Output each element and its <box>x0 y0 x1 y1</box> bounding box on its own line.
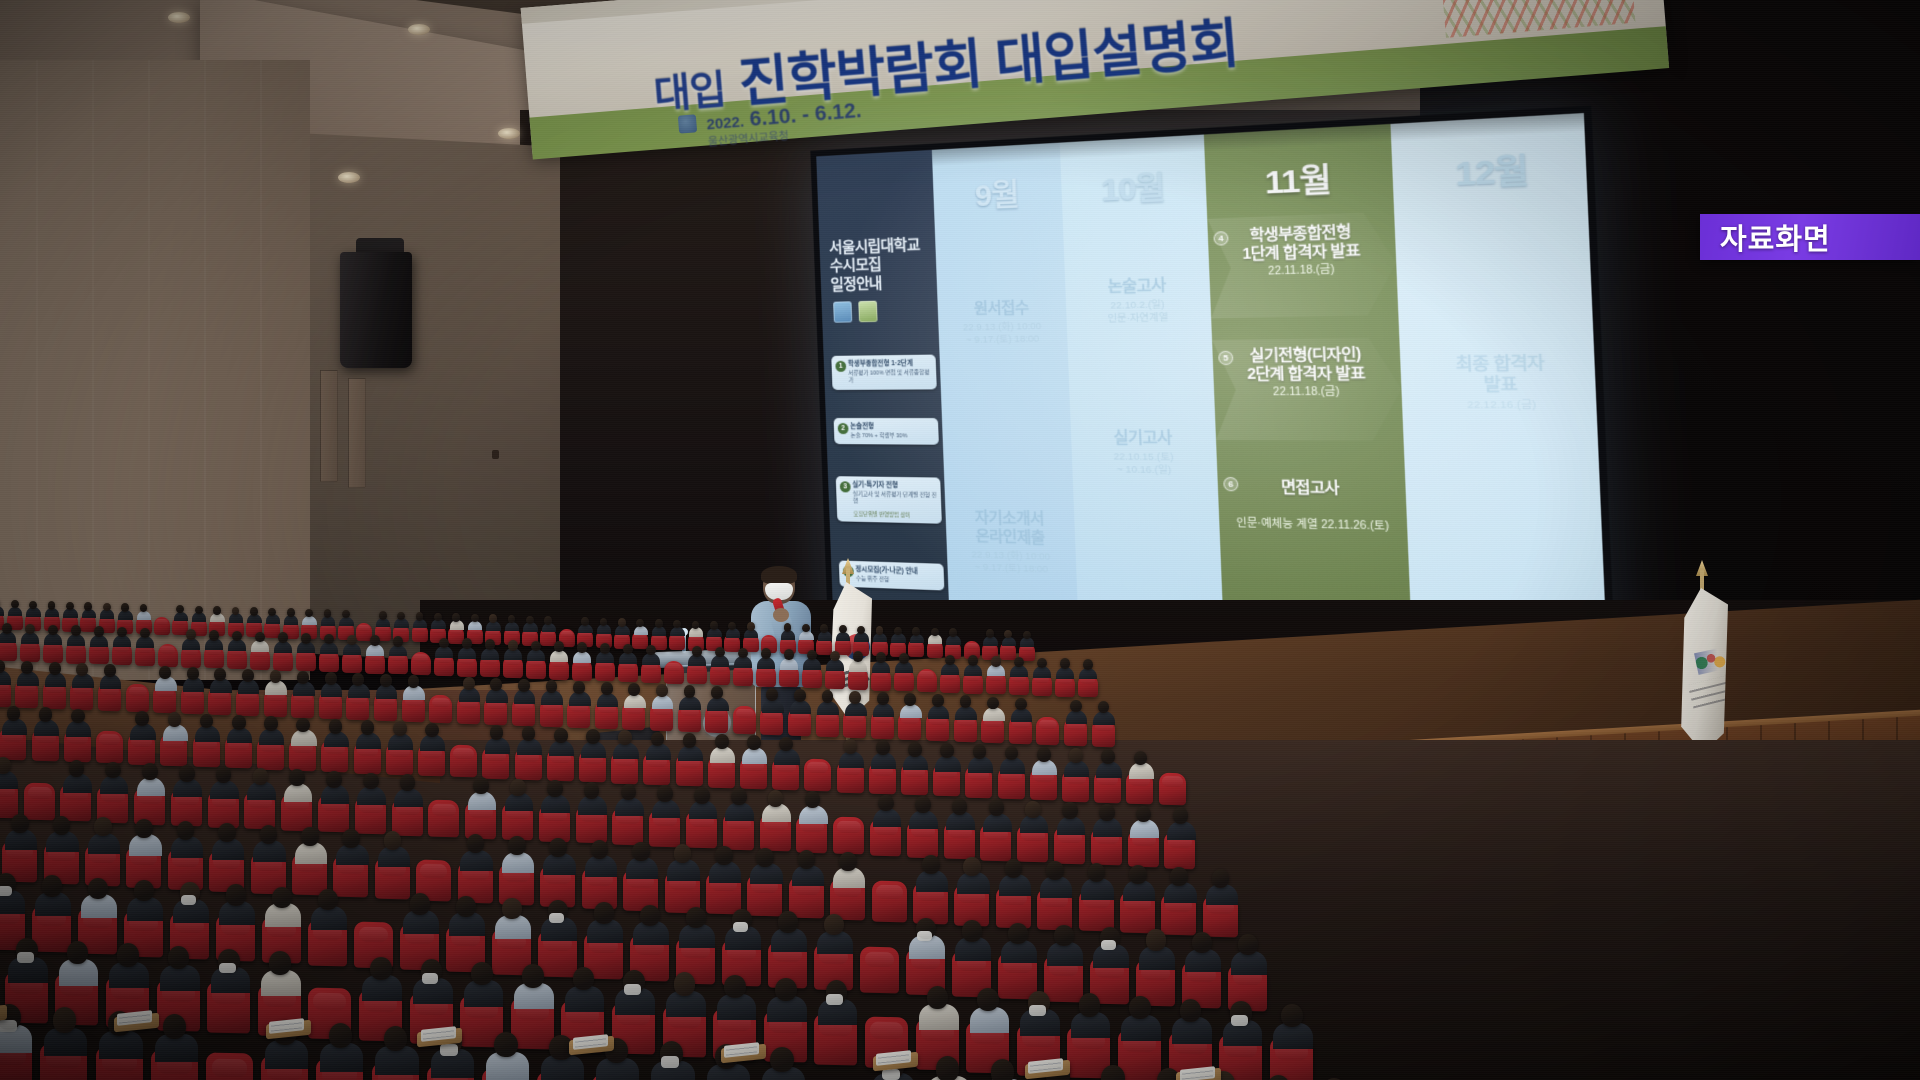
audience-member-head <box>250 607 258 615</box>
audience-member-head <box>1101 1065 1124 1080</box>
sidebar-notice-card: 1 학생부종합전형 1·2단계 서류평가 100% 면접 및 서류종합평가 <box>831 355 937 390</box>
audience-member-head <box>1046 861 1064 880</box>
audience-member-head <box>186 629 196 640</box>
audience-member-head <box>694 787 710 804</box>
audience-member-head <box>1173 807 1189 824</box>
audience-face-mask <box>1101 940 1116 950</box>
ceiling-light <box>408 24 430 35</box>
audience-member-head <box>824 914 844 935</box>
auditorium-seat <box>1036 717 1059 745</box>
document-icon <box>833 301 852 322</box>
audience-member-shoulders <box>1002 637 1016 647</box>
audience-member-head <box>471 962 493 985</box>
audience-member-head <box>1099 804 1115 821</box>
audience-member-head <box>522 964 544 987</box>
audience-member-head <box>361 720 375 735</box>
slide-institution: 서울시립대학교 <box>829 236 932 258</box>
notice-heading: 실기·특기자 전형 <box>852 481 936 491</box>
audience-member-head <box>600 643 610 654</box>
audience-member-head <box>29 601 37 609</box>
audience-member-head <box>1170 867 1188 886</box>
audience-member-head <box>397 612 405 620</box>
audience-member-head <box>71 709 85 724</box>
audience-member-head <box>425 723 439 738</box>
audience-member-head <box>1238 934 1258 955</box>
organizer-logo-icon <box>678 114 697 133</box>
notice-number: 3 <box>840 481 851 492</box>
notice-body: 논술 70% + 학생부 30% <box>851 433 935 441</box>
audience-face-mask <box>826 994 843 1005</box>
audience-member-head <box>117 943 139 966</box>
month-header: 12월 <box>1391 138 1595 198</box>
audience-member-head <box>105 762 121 779</box>
wall-fixture <box>492 450 499 459</box>
audience-member-head <box>1083 659 1093 670</box>
audience-member-head <box>798 850 816 869</box>
audience-member-head <box>711 686 723 699</box>
audience-member-head <box>591 840 609 859</box>
audience-member-head <box>692 621 700 629</box>
audience-member-head <box>912 627 920 635</box>
audience-member-head <box>463 677 475 690</box>
audience-member-head <box>518 679 530 692</box>
auditorium-seat <box>733 705 756 733</box>
audience-member-head <box>549 838 567 857</box>
wall-left-panel-seams <box>0 60 310 680</box>
audience-member-head <box>945 655 955 666</box>
auditorium-seat <box>917 669 937 693</box>
audience-member-head <box>226 884 246 905</box>
audience-member-head <box>1005 859 1023 878</box>
audience-face-mask <box>440 1044 458 1056</box>
handout-text-lines <box>878 1052 909 1063</box>
audience-member-head <box>962 920 982 941</box>
auditorium-seat <box>664 660 684 684</box>
audience-member-head <box>674 844 692 863</box>
audience-face-mask <box>549 913 564 923</box>
audience-face-mask <box>0 1020 17 1032</box>
audience-face-mask <box>1029 1005 1046 1016</box>
audience-member-head <box>408 675 420 688</box>
audience-member-head <box>187 667 199 680</box>
audience-member-head <box>1037 658 1047 669</box>
auditorium-seat <box>206 1053 253 1080</box>
audience-member-head <box>830 651 840 662</box>
presenter-hair <box>761 566 797 584</box>
event-step-badge: 6 <box>1223 477 1238 491</box>
audience-member-head <box>393 721 407 736</box>
audience-member-head <box>0 757 11 774</box>
audience-member-head <box>1146 929 1166 950</box>
audience-member-head <box>329 719 343 734</box>
audience-face-mask <box>917 931 932 941</box>
audience-member-head <box>489 614 497 622</box>
audience-member-head <box>784 623 792 631</box>
audience-member-head <box>573 967 595 990</box>
slide-event: 논술고사 22.10.2.(일) 인문·자연계열 <box>1065 275 1211 327</box>
audience-member-head <box>49 662 61 675</box>
handout-text-lines <box>423 1029 454 1040</box>
audience-member-head <box>618 730 632 745</box>
audience-face-mask <box>733 922 748 932</box>
audience-member-head <box>1008 923 1028 944</box>
notice-body: 실기고사 및 서류평가 단계별 전형 진행 <box>853 492 938 508</box>
audience-member-head <box>301 827 319 846</box>
audience-member-head <box>53 816 71 835</box>
audience-member-head <box>756 848 774 867</box>
audience-member-head <box>117 627 127 638</box>
audience-member-head <box>844 739 858 754</box>
audience-member-head <box>952 798 968 815</box>
auditorium-seat <box>833 817 864 855</box>
audience-member-head <box>778 911 798 932</box>
slide-event: 최종 합격자 발표 22.12.16.(금) <box>1400 353 1605 413</box>
audience-member-head <box>1129 865 1147 884</box>
audience-member-shoulders <box>1010 665 1028 677</box>
audience-member-head <box>546 680 558 693</box>
audience-member-head <box>135 819 153 838</box>
audience-member-head <box>770 1047 793 1072</box>
audience-member-head <box>987 697 999 710</box>
wall-mid-shadow <box>300 133 560 667</box>
audience-member-head <box>805 791 821 808</box>
audience-member-head <box>594 902 614 923</box>
audience-member-head <box>1060 658 1070 669</box>
flag-cloth <box>1676 588 1728 753</box>
audience-member-head <box>715 647 725 658</box>
slide-event: 원서접수 22.9.13.(화) 10:00 ~ 9.17.(토) 18:00 <box>938 298 1068 348</box>
audience-member-head <box>531 641 541 652</box>
audience-member-head <box>325 672 337 685</box>
notice-heading: 논술전형 <box>850 423 934 432</box>
audience-member-head <box>301 633 311 644</box>
audience-face-mask <box>181 895 196 905</box>
audience-member-head <box>508 640 518 651</box>
audience-member-head <box>839 625 847 633</box>
audience-member-head <box>76 663 88 676</box>
handout-text-lines <box>726 1044 757 1055</box>
audience-member-head <box>11 600 19 608</box>
audience-member-head <box>1015 698 1027 711</box>
event-title: 최종 합격자 발표 <box>1400 353 1604 396</box>
chevron-highlight <box>1212 337 1404 441</box>
audience-member-head <box>287 608 295 616</box>
audience-member-head <box>1192 932 1212 953</box>
wall-speaker <box>340 252 412 368</box>
auditorium-seat <box>411 652 431 676</box>
audience-member-head <box>1129 996 1151 1019</box>
audience-member-head <box>940 743 954 758</box>
audience-member-head <box>651 732 665 747</box>
audience-member-head <box>738 648 748 659</box>
acoustic-panel <box>320 370 338 482</box>
audience-member-head <box>577 642 587 653</box>
audience-member-head <box>216 766 232 783</box>
audience-member-head <box>1023 631 1031 639</box>
audience-member-head <box>973 744 987 759</box>
auditorium-seat <box>24 782 55 820</box>
slide-event: 자기소개서 온라인제출 22.9.13.(화) 10:00 ~ 9.17.(토)… <box>945 508 1076 577</box>
audience-member-head <box>318 889 338 910</box>
event-title: 논술고사 <box>1065 275 1210 298</box>
auditorium-seat <box>429 694 452 722</box>
audience-member-head <box>25 624 35 635</box>
event-date: 인문·예체능 계열 22.11.26.(토) <box>1219 517 1407 535</box>
audience-member-head <box>822 690 834 703</box>
event-date: 22.10.2.(일) 인문·자연계열 <box>1066 298 1212 327</box>
audience-member-head <box>963 857 981 876</box>
chevron-highlight <box>1207 211 1398 318</box>
slide-sidebar-icons <box>833 301 878 323</box>
audience-member-head <box>467 834 485 853</box>
audience-member-head <box>1180 999 1202 1022</box>
audience-member-shoulders <box>670 627 684 637</box>
month-header: 10월 <box>1061 158 1207 212</box>
audience-member-head <box>878 795 894 812</box>
event-title: 면접고사 <box>1218 477 1406 498</box>
event-date: 22.10.15.(토) ~ 10.16.(일) <box>1072 451 1218 478</box>
audience-member-head <box>163 1014 186 1039</box>
audience-member-head <box>242 669 254 682</box>
audience-member-head <box>526 616 534 624</box>
handout-text-lines <box>271 1021 302 1032</box>
slide-subtitle-2: 일정안내 <box>830 273 933 294</box>
institution-emblem-icon <box>1694 647 1728 675</box>
audience-face-mask <box>17 952 34 963</box>
handout-text-lines <box>575 1037 606 1048</box>
event-title: 원서접수 <box>938 298 1067 320</box>
audience-member-head <box>1062 802 1078 819</box>
audience-member-head <box>195 606 203 614</box>
audience-member-head <box>329 1023 352 1048</box>
audience-member-shoulders <box>634 626 648 636</box>
status-badge: 자료화면 <box>1700 214 1920 260</box>
audience-member-head <box>724 975 746 998</box>
audience-member-head <box>462 638 472 649</box>
audience-member-head <box>581 617 589 625</box>
audience-member-head <box>656 684 668 697</box>
audience-member-head <box>807 650 817 661</box>
audience-member-head <box>968 655 978 666</box>
audience-member-head <box>363 773 379 790</box>
audience-member-head <box>439 638 449 649</box>
audience-member-head <box>490 678 502 691</box>
audience-member-head <box>768 790 784 807</box>
audience-member-head <box>977 988 999 1011</box>
audience-member-head <box>640 905 660 926</box>
audience-member-head <box>1070 700 1082 713</box>
audience-member-head <box>989 799 1005 816</box>
audience-member-head <box>876 740 890 755</box>
audience-member-head <box>48 625 58 636</box>
audience-member-head <box>370 635 380 646</box>
audience-member-head <box>384 1026 407 1051</box>
audience-member-head <box>628 683 640 696</box>
auditorium-seat <box>872 881 907 923</box>
audience-member-head <box>494 1032 517 1057</box>
audience-member-head <box>922 855 940 874</box>
audience-member-head <box>410 893 430 914</box>
audience-member-head <box>877 692 889 705</box>
audience-member-head <box>1037 747 1051 762</box>
audience-member-head <box>927 986 949 1009</box>
notice-number: 2 <box>838 423 849 434</box>
audience-member-head <box>213 606 221 614</box>
audience-member-head <box>1054 925 1074 946</box>
audience-member-head <box>931 628 939 636</box>
audience-member-head <box>715 846 733 865</box>
audience-member-head <box>908 742 922 757</box>
audience-member-head <box>960 695 972 708</box>
audience-member-head <box>84 602 92 610</box>
audience-member-head <box>1014 657 1024 668</box>
audience-member-head <box>1088 863 1106 882</box>
audience-member-head <box>177 821 195 840</box>
audience-face-mask <box>1231 1015 1248 1026</box>
audience-face-mask <box>624 984 641 995</box>
audience-member-head <box>784 649 794 660</box>
audience-member-head <box>894 627 902 635</box>
audience-member-shoulders <box>803 658 821 670</box>
ceiling-light <box>168 12 190 23</box>
audience-member-head <box>601 682 613 695</box>
audience-member-head <box>326 771 342 788</box>
audience-member-head <box>1281 1004 1303 1027</box>
audience-member-head <box>715 734 729 749</box>
auditorium-seat <box>450 745 477 778</box>
audience-member-head <box>179 765 195 782</box>
audience-member-head <box>1101 749 1115 764</box>
audience-member-head <box>502 898 522 919</box>
auditorium-seat <box>154 616 170 635</box>
audience-member-head <box>1069 748 1083 763</box>
audience-member-head <box>1212 869 1230 888</box>
event-date: 22.9.13.(화) 10:00 ~ 9.17.(토) 18:00 <box>938 320 1067 347</box>
audience-member-head <box>632 842 650 861</box>
audience-member-head <box>573 681 585 694</box>
audience-member-head <box>710 621 718 629</box>
audience-member-head <box>232 715 246 730</box>
audience-member-head <box>168 712 182 727</box>
audience-member-head <box>384 831 402 850</box>
audience-member-head <box>214 668 226 681</box>
audience-member-head <box>839 852 857 871</box>
audience-member-head <box>42 875 62 896</box>
audience-member-head <box>260 825 278 844</box>
audience-member-head <box>1079 993 1101 1016</box>
audience-member-head <box>794 689 806 702</box>
audience-member-head <box>209 630 219 641</box>
audience-member-head <box>7 706 21 721</box>
audience-member-head <box>747 622 755 630</box>
audience-member-head <box>393 636 403 647</box>
audience-member-head <box>584 782 600 799</box>
audience-member-head <box>324 609 332 617</box>
auditorium-seat <box>804 759 831 792</box>
audience-member-head <box>269 951 291 974</box>
ceiling-light <box>338 172 360 183</box>
audience-member-head <box>686 907 706 928</box>
presenter-hand <box>773 608 789 622</box>
audience-member-head <box>853 651 863 662</box>
event-title: 실기고사 <box>1071 429 1217 449</box>
audience-member-head <box>48 601 56 609</box>
notice-number: 1 <box>835 361 846 372</box>
audience-member-head <box>253 768 269 785</box>
audience-member-head <box>2 623 12 634</box>
event-title: 자기소개서 온라인제출 <box>945 508 1075 549</box>
audience-member-shoulders <box>339 617 353 627</box>
audience-member-head <box>347 635 357 646</box>
audience-member-head <box>949 628 957 636</box>
month-header: 9월 <box>933 166 1063 218</box>
audience-member-head <box>761 648 771 659</box>
audience-member-head <box>159 666 171 679</box>
auditorium-seat <box>126 683 149 711</box>
auditorium-seat <box>96 731 123 764</box>
auditorium-seat <box>1159 773 1186 806</box>
notice-body: 서류평가 100% 면접 및 서류종합평가 <box>848 370 932 385</box>
audience-member-head <box>646 645 656 656</box>
audience-member-head <box>104 664 116 677</box>
audience-member-head <box>936 1056 959 1080</box>
audience-face-mask <box>882 1069 900 1080</box>
audience-member-head <box>168 946 190 969</box>
notice-footnote: 모집단위별 반영방법 상이 <box>853 509 937 519</box>
audience-member-head <box>820 624 828 632</box>
broadcast-frame: 대입 진학박람회 대입설명회 2022. 6.10. - 6.12. 울산광역시… <box>0 0 1920 1080</box>
audience-face-mask <box>422 973 439 984</box>
month-header: 11월 <box>1205 149 1394 206</box>
calendar-icon <box>858 301 877 323</box>
audience-member-head <box>400 774 416 791</box>
audience-member-head <box>692 646 702 657</box>
event-date: 22.9.13.(화) 10:00 ~ 9.17.(토) 18:00 <box>947 549 1077 578</box>
notice-heading: 학생부종합전형 1·2단계 <box>848 360 932 369</box>
audience-member-head <box>434 613 442 621</box>
audience-member-head <box>904 693 916 706</box>
institution-flag-text <box>1688 676 1733 709</box>
slide-event: 6 면접고사 인문·예체능 계열 22.11.26.(토) <box>1218 477 1408 535</box>
audience-member-head <box>352 673 364 686</box>
audience-member-head <box>991 1059 1014 1080</box>
audience-member-head <box>218 823 236 842</box>
audience-member-head <box>296 718 310 733</box>
audience-member-head <box>297 671 309 684</box>
auditorium-seat <box>860 946 899 993</box>
audience-member-head <box>370 957 392 980</box>
audience-member-head <box>324 634 334 645</box>
audience-member-head <box>554 728 568 743</box>
audience-member-head <box>452 613 460 621</box>
audience-member-head <box>66 602 74 610</box>
audience-member-head <box>674 972 696 995</box>
status-badge-label: 자료화면 <box>1720 216 1831 258</box>
audience-member-head <box>684 685 696 698</box>
sidebar-notice-card: 3 실기·특기자 전형 실기고사 및 서류평가 단계별 전형 진행 모집단위별 … <box>836 476 942 523</box>
audience-member-shoulders <box>174 612 188 622</box>
audience-member-head <box>554 641 564 652</box>
audience-member-head <box>94 817 112 836</box>
auditorium-seat <box>158 643 178 667</box>
audience-member-head <box>547 780 563 797</box>
audience-member-head <box>857 626 865 634</box>
audience-face-mask <box>219 963 236 974</box>
audience-member-head <box>471 614 479 622</box>
ceiling-light <box>498 128 520 139</box>
audience-member-head <box>657 785 673 802</box>
audience-member-head <box>11 814 29 833</box>
